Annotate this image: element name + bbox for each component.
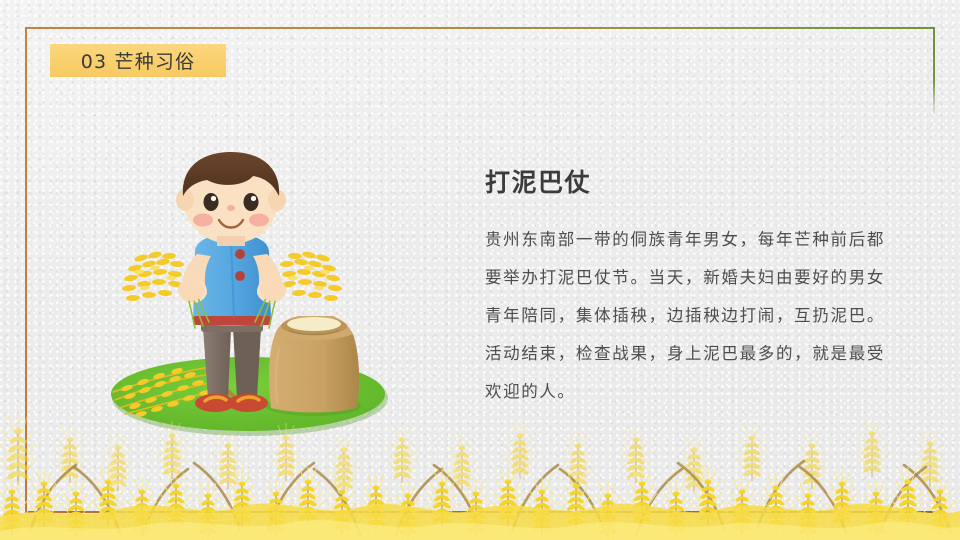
slide-canvas: 03 芒种习俗 bbox=[0, 0, 960, 540]
wheat-base-fill bbox=[0, 504, 960, 540]
grain-sack bbox=[265, 316, 361, 416]
wheat-base-highlight bbox=[0, 520, 960, 540]
wheat-blades bbox=[30, 461, 950, 535]
frame-bottom-border bbox=[25, 511, 935, 513]
frame-top-border bbox=[25, 27, 935, 29]
content-text-column: 打泥巴仗 贵州东南部一带的侗族青年男女，每年芒种前后都要举办打泥巴仗节。当天，新… bbox=[485, 163, 885, 411]
wheat-spikes-front bbox=[0, 467, 956, 539]
content-title: 打泥巴仗 bbox=[485, 163, 885, 199]
frame-left-border bbox=[25, 27, 27, 513]
head bbox=[176, 152, 286, 244]
neck bbox=[217, 236, 245, 246]
content-body: 贵州东南部一带的侗族青年男女，每年芒种前后都要举办打泥巴仗节。当天，新婚夫妇由要… bbox=[485, 221, 885, 411]
section-badge-label: 03 芒种习俗 bbox=[81, 47, 196, 74]
section-badge: 03 芒种习俗 bbox=[50, 44, 226, 77]
boy-holding-wheat-illustration bbox=[85, 150, 415, 440]
frame-right-border bbox=[933, 27, 935, 117]
